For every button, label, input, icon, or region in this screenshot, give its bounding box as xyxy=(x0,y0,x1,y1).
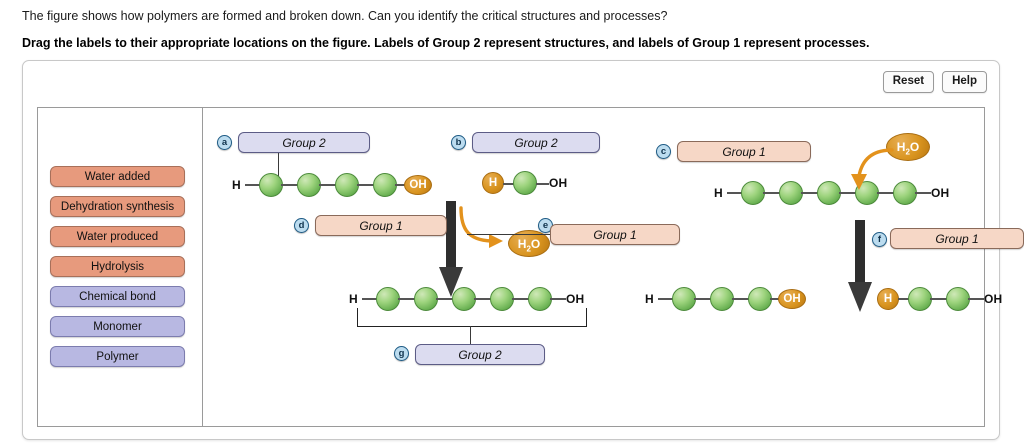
polymer-bracket xyxy=(357,308,587,327)
dropzone-f-group1[interactable]: Group 1 xyxy=(890,228,1024,249)
oh-text-b: OH xyxy=(549,177,567,189)
monomer-a-4 xyxy=(373,173,397,197)
oh-group-a: OH xyxy=(404,175,432,195)
activity-panel: Reset Help Water added Dehydration synth… xyxy=(22,60,1000,440)
label-bank: Water added Dehydration synthesis Water … xyxy=(38,108,203,426)
label-chip-polymer[interactable]: Polymer xyxy=(50,346,185,367)
dropzone-a-group2[interactable]: Group 2 xyxy=(238,132,370,153)
label-chip-monomer[interactable]: Monomer xyxy=(50,316,185,337)
monomer-q-2 xyxy=(710,287,734,311)
monomer-c-1 xyxy=(741,181,765,205)
monomer-c-3 xyxy=(817,181,841,205)
water-label-right: H2O xyxy=(897,140,919,154)
dropzone-c-group1[interactable]: Group 1 xyxy=(677,141,811,162)
h-group-r: H xyxy=(877,288,899,310)
monomer-a-3 xyxy=(335,173,359,197)
monomer-a-1 xyxy=(259,173,283,197)
reset-button[interactable]: Reset xyxy=(883,71,934,93)
panel-toolbar: Reset Help xyxy=(883,71,987,93)
help-button[interactable]: Help xyxy=(942,71,987,93)
monomer-r-1 xyxy=(908,287,932,311)
label-chip-water-produced[interactable]: Water produced xyxy=(50,226,185,247)
label-chip-dehydration-synthesis[interactable]: Dehydration synthesis xyxy=(50,196,185,217)
monomer-r-2 xyxy=(946,287,970,311)
dropzone-g-group2[interactable]: Group 2 xyxy=(415,344,545,365)
atom-h-chain-a: H xyxy=(232,179,241,191)
atom-h-chain-c: H xyxy=(714,187,723,199)
oh-text-r: OH xyxy=(984,293,1002,305)
monomer-c-2 xyxy=(779,181,803,205)
oh-text-product-left: OH xyxy=(566,293,584,305)
water-label-left: H2O xyxy=(518,237,540,251)
h-group-b: H xyxy=(482,172,504,194)
monomer-q-1 xyxy=(672,287,696,311)
label-chip-chemical-bond[interactable]: Chemical bond xyxy=(50,286,185,307)
marker-c[interactable]: c xyxy=(656,144,671,159)
leader-line-e xyxy=(467,234,551,235)
oh-group-q: OH xyxy=(778,289,806,309)
marker-f[interactable]: f xyxy=(872,232,887,247)
marker-g[interactable]: g xyxy=(394,346,409,361)
label-chip-water-added[interactable]: Water added xyxy=(50,166,185,187)
question-prompt: The figure shows how polymers are formed… xyxy=(22,8,982,24)
label-chip-hydrolysis[interactable]: Hydrolysis xyxy=(50,256,185,277)
figure-area: Water added Dehydration synthesis Water … xyxy=(37,107,985,427)
dropzone-d-group1[interactable]: Group 1 xyxy=(315,215,447,236)
monomer-c-5 xyxy=(893,181,917,205)
bond-c-5 xyxy=(915,192,931,194)
monomer-a-2 xyxy=(297,173,321,197)
marker-b[interactable]: b xyxy=(451,135,466,150)
marker-d[interactable]: d xyxy=(294,218,309,233)
bond-r-2 xyxy=(968,298,984,300)
hydrolysis-arrow xyxy=(848,220,872,312)
monomer-q-3 xyxy=(748,287,772,311)
bond-p-5 xyxy=(550,298,566,300)
question-instruction: Drag the labels to their appropriate loc… xyxy=(22,35,1002,51)
dropzone-e-group1[interactable]: Group 1 xyxy=(550,224,680,245)
atom-h-product-3mer: H xyxy=(645,293,654,305)
water-added-arrow xyxy=(842,144,896,192)
monomer-b-1 xyxy=(513,171,537,195)
oh-text-c: OH xyxy=(931,187,949,199)
bond-b-1 xyxy=(536,183,549,185)
atom-h-product-left: H xyxy=(349,293,358,305)
dropzone-b-group2[interactable]: Group 2 xyxy=(472,132,600,153)
marker-a[interactable]: a xyxy=(217,135,232,150)
figure-canvas: a Group 2 H OH b Group 2 H OH xyxy=(202,108,984,426)
